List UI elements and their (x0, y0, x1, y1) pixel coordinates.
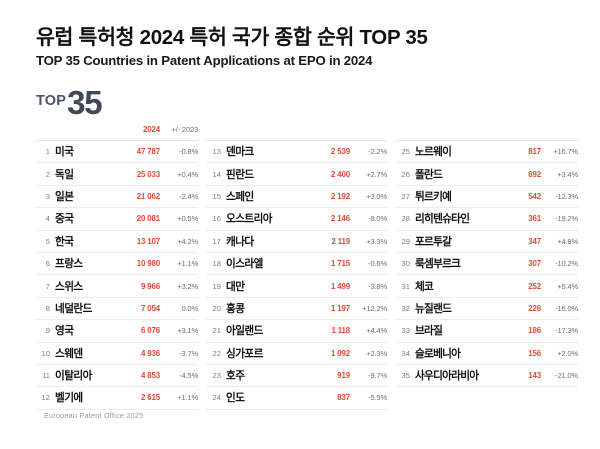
row-country: 인도 (226, 390, 337, 405)
table-row[interactable]: 13덴마크2 539-2.2% (206, 141, 387, 163)
table-row[interactable]: 1미국47 787-0.8% (35, 141, 198, 163)
table-row[interactable]: 22싱가포르1 092+2.3% (206, 343, 387, 365)
table-row[interactable]: 4중국20 081+0.5% (35, 208, 198, 230)
column-header: # x 2024 +/- 2023 (35, 122, 198, 141)
row-rank: 14 (206, 170, 226, 179)
table-row[interactable]: 2독일25 033+0.4% (35, 163, 198, 185)
table-row[interactable]: 31체코252+5.4% (395, 275, 578, 297)
row-delta-2023: -4.5% (168, 371, 198, 380)
header: 유럽 특허청 2024 특허 국가 종합 순위 TOP 35 TOP 35 Co… (0, 0, 600, 69)
row-delta-2023: -0.8% (168, 147, 198, 156)
ranking-column-2: 13덴마크2 539-2.2%14핀란드2 400+2.7%15스페인2 192… (206, 122, 387, 410)
table-row[interactable]: 5한국13 107+4.2% (35, 231, 198, 253)
row-country: 벨기에 (55, 390, 141, 405)
row-country: 대만 (226, 279, 331, 294)
row-value-2024: 1 197 (331, 304, 357, 313)
table-row[interactable]: 23호주919-9.7% (206, 365, 387, 387)
top35-badge: TOP 35 (36, 86, 600, 119)
table-row[interactable]: 7스위스9 966+3.2% (35, 275, 198, 297)
row-value-2024: 1 715 (331, 259, 357, 268)
row-delta-2023: -16.0% (548, 304, 578, 313)
row-country: 핀란드 (226, 167, 331, 182)
row-rank: 32 (395, 304, 415, 313)
row-value-2024: 542 (528, 192, 548, 201)
row-delta-2023: -10.2% (548, 259, 578, 268)
row-value-2024: 252 (528, 282, 548, 291)
table-row[interactable]: 33브라질186-17.3% (395, 320, 578, 342)
row-delta-2023: +3.0% (357, 192, 387, 201)
row-country: 미국 (55, 144, 137, 159)
column-3-rows: 25노르웨이817+16.7%26폴란드692+3.4%27튀르키예542-12… (395, 141, 578, 387)
row-delta-2023: -0.6% (357, 259, 387, 268)
page-title: 유럽 특허청 2024 특허 국가 종합 순위 TOP 35 (36, 26, 600, 50)
table-row[interactable]: 32뉴질랜드226-16.0% (395, 298, 578, 320)
row-value-2024: 361 (528, 214, 548, 223)
badge-number: 35 (67, 86, 101, 119)
row-country: 일본 (55, 189, 137, 204)
row-country: 싱가포르 (226, 346, 331, 361)
row-country: 독일 (55, 167, 137, 182)
row-rank: 10 (35, 349, 55, 358)
row-rank: 8 (35, 304, 55, 313)
row-rank: 25 (395, 147, 415, 156)
row-country: 스페인 (226, 189, 331, 204)
row-value-2024: 13 107 (137, 237, 168, 246)
row-rank: 5 (35, 237, 55, 246)
row-value-2024: 9 966 (141, 282, 168, 291)
row-rank: 15 (206, 192, 226, 201)
table-row[interactable]: 26폴란드692+3.4% (395, 163, 578, 185)
row-country: 브라질 (415, 323, 528, 338)
source-credit: European Patent Office 2025 (44, 411, 143, 420)
table-row[interactable]: 24인도837-5.5% (206, 387, 387, 409)
table-row[interactable]: 16오스트리아2 146-8.0% (206, 208, 387, 230)
row-delta-2023: +2.3% (357, 349, 387, 358)
row-rank: 19 (206, 282, 226, 291)
table-row[interactable]: 18이스라엘1 715-0.6% (206, 253, 387, 275)
row-rank: 27 (395, 192, 415, 201)
table-row[interactable]: 25노르웨이817+16.7% (395, 141, 578, 163)
row-delta-2023: +1.1% (168, 259, 198, 268)
infographic-page: 유럽 특허청 2024 특허 국가 종합 순위 TOP 35 TOP 35 Co… (0, 0, 600, 449)
row-delta-2023: +3.2% (168, 282, 198, 291)
row-rank: 35 (395, 371, 415, 380)
row-rank: 34 (395, 349, 415, 358)
row-rank: 16 (206, 214, 226, 223)
row-country: 이탈리아 (55, 368, 141, 383)
table-row[interactable]: 34슬로베니아156+2.0% (395, 343, 578, 365)
row-value-2024: 2 539 (331, 147, 357, 156)
row-rank: 28 (395, 214, 415, 223)
row-value-2024: 2 119 (331, 237, 357, 246)
row-value-2024: 919 (337, 371, 357, 380)
row-country: 네덜란드 (55, 301, 141, 316)
row-rank: 31 (395, 282, 415, 291)
ranking-columns: # x 2024 +/- 2023 1미국47 787-0.8%2독일25 03… (0, 122, 600, 410)
row-delta-2023: +3.3% (357, 237, 387, 246)
table-row[interactable]: 12벨기에2 615+1.1% (35, 387, 198, 409)
row-delta-2023: -2.2% (357, 147, 387, 156)
row-country: 스웨덴 (55, 346, 141, 361)
row-value-2024: 6 076 (141, 326, 168, 335)
row-delta-2023: +0.5% (168, 214, 198, 223)
page-subtitle: TOP 35 Countries in Patent Applications … (36, 53, 600, 69)
row-delta-2023: +16.7% (548, 147, 578, 156)
row-country: 폴란드 (415, 167, 528, 182)
row-country: 룩셈부르크 (415, 256, 528, 271)
row-country: 스위스 (55, 279, 141, 294)
row-value-2024: 1 118 (331, 326, 357, 335)
row-value-2024: 156 (528, 349, 548, 358)
row-country: 사우디아라비아 (415, 368, 528, 383)
row-delta-2023: -5.5% (357, 393, 387, 402)
table-row[interactable]: 9영국6 076+3.1% (35, 320, 198, 342)
row-delta-2023: -19.2% (548, 214, 578, 223)
row-rank: 1 (35, 147, 55, 156)
table-row[interactable]: 35사우디아라비아143-21.0% (395, 365, 578, 387)
column-3-rule (395, 122, 578, 141)
row-delta-2023: +1.1% (168, 393, 198, 402)
table-row[interactable]: 14핀란드2 400+2.7% (206, 163, 387, 185)
table-row[interactable]: 8네덜란드7 0540.0% (35, 298, 198, 320)
table-row[interactable]: 15스페인2 192+3.0% (206, 186, 387, 208)
row-value-2024: 692 (528, 170, 548, 179)
table-row[interactable]: 28리히텐슈타인361-19.2% (395, 208, 578, 230)
row-value-2024: 4 853 (141, 371, 168, 380)
badge-top-label: TOP (36, 94, 66, 109)
row-country: 중국 (55, 211, 137, 226)
row-delta-2023: -9.7% (357, 371, 387, 380)
row-value-2024: 20 081 (137, 214, 168, 223)
row-delta-2023: -2.4% (168, 192, 198, 201)
row-country: 뉴질랜드 (415, 301, 528, 316)
row-delta-2023: -12.3% (548, 192, 578, 201)
header-year-current: 2024 (143, 125, 168, 134)
row-rank: 13 (206, 147, 226, 156)
row-rank: 29 (395, 237, 415, 246)
row-delta-2023: +12.2% (357, 304, 387, 313)
row-country: 아일랜드 (226, 323, 331, 338)
row-delta-2023: -3.8% (357, 282, 387, 291)
row-value-2024: 25 033 (137, 170, 168, 179)
table-row[interactable]: 29포르투갈347+4.8% (395, 231, 578, 253)
row-value-2024: 307 (528, 259, 548, 268)
table-row[interactable]: 20홍콩1 197+12.2% (206, 298, 387, 320)
row-value-2024: 2 400 (331, 170, 357, 179)
row-country: 포르투갈 (415, 234, 528, 249)
row-delta-2023: 0.0% (168, 304, 198, 313)
row-rank: 21 (206, 326, 226, 335)
row-value-2024: 10 980 (137, 259, 168, 268)
row-value-2024: 1 092 (331, 349, 357, 358)
row-country: 덴마크 (226, 144, 331, 159)
row-value-2024: 143 (528, 371, 548, 380)
row-rank: 12 (35, 393, 55, 402)
ranking-column-3: 25노르웨이817+16.7%26폴란드692+3.4%27튀르키예542-12… (395, 122, 578, 410)
table-row[interactable]: 3일본21 062-2.4% (35, 186, 198, 208)
row-delta-2023: +3.1% (168, 326, 198, 335)
row-rank: 24 (206, 393, 226, 402)
row-delta-2023: +5.4% (548, 282, 578, 291)
header-year-compare: +/- 2023 (168, 125, 198, 134)
row-rank: 18 (206, 259, 226, 268)
row-value-2024: 2 615 (141, 393, 168, 402)
row-rank: 9 (35, 326, 55, 335)
table-row[interactable]: 11이탈리아4 853-4.5% (35, 365, 198, 387)
table-row[interactable]: 27튀르키예542-12.3% (395, 186, 578, 208)
row-rank: 11 (35, 371, 55, 380)
row-delta-2023: +4.2% (168, 237, 198, 246)
row-delta-2023: +3.4% (548, 170, 578, 179)
row-value-2024: 4 936 (141, 349, 168, 358)
column-2-rule (206, 122, 387, 141)
row-country: 캐나다 (226, 234, 331, 249)
row-value-2024: 186 (528, 326, 548, 335)
row-rank: 33 (395, 326, 415, 335)
column-2-rows: 13덴마크2 539-2.2%14핀란드2 400+2.7%15스페인2 192… (206, 141, 387, 410)
row-country: 이스라엘 (226, 256, 331, 271)
row-country: 튀르키예 (415, 189, 528, 204)
row-delta-2023: -21.0% (548, 371, 578, 380)
row-rank: 4 (35, 214, 55, 223)
row-country: 리히텐슈타인 (415, 211, 528, 226)
row-country: 체코 (415, 279, 528, 294)
table-row[interactable]: 21아일랜드1 118+4.4% (206, 320, 387, 342)
row-rank: 22 (206, 349, 226, 358)
row-delta-2023: +2.7% (357, 170, 387, 179)
row-delta-2023: -8.0% (357, 214, 387, 223)
row-delta-2023: +4.8% (548, 237, 578, 246)
row-value-2024: 817 (528, 147, 548, 156)
ranking-column-1: # x 2024 +/- 2023 1미국47 787-0.8%2독일25 03… (35, 122, 198, 410)
table-row[interactable]: 10스웨덴4 936-3.7% (35, 343, 198, 365)
row-delta-2023: +2.0% (548, 349, 578, 358)
row-delta-2023: -3.7% (168, 349, 198, 358)
row-rank: 30 (395, 259, 415, 268)
row-country: 노르웨이 (415, 144, 528, 159)
row-country: 홍콩 (226, 301, 331, 316)
row-rank: 17 (206, 237, 226, 246)
row-value-2024: 2 192 (331, 192, 357, 201)
row-value-2024: 7 054 (141, 304, 168, 313)
row-delta-2023: +0.4% (168, 170, 198, 179)
row-country: 오스트리아 (226, 211, 331, 226)
row-value-2024: 21 062 (137, 192, 168, 201)
table-row[interactable]: 19대만1 499-3.8% (206, 275, 387, 297)
row-value-2024: 47 787 (137, 147, 168, 156)
table-row[interactable]: 17캐나다2 119+3.3% (206, 231, 387, 253)
row-rank: 3 (35, 192, 55, 201)
row-delta-2023: -17.3% (548, 326, 578, 335)
row-country: 한국 (55, 234, 137, 249)
column-1-rows: 1미국47 787-0.8%2독일25 033+0.4%3일본21 062-2.… (35, 141, 198, 410)
row-rank: 2 (35, 170, 55, 179)
row-rank: 20 (206, 304, 226, 313)
row-country: 슬로베니아 (415, 346, 528, 361)
row-rank: 7 (35, 282, 55, 291)
row-value-2024: 226 (528, 304, 548, 313)
row-country: 호주 (226, 368, 337, 383)
row-value-2024: 2 146 (331, 214, 357, 223)
row-country: 프랑스 (55, 256, 137, 271)
row-delta-2023: +4.4% (357, 326, 387, 335)
table-row[interactable]: 6프랑스10 980+1.1% (35, 253, 198, 275)
row-value-2024: 837 (337, 393, 357, 402)
table-row[interactable]: 30룩셈부르크307-10.2% (395, 253, 578, 275)
row-value-2024: 1 499 (331, 282, 357, 291)
row-rank: 23 (206, 371, 226, 380)
row-rank: 6 (35, 259, 55, 268)
row-rank: 26 (395, 170, 415, 179)
row-value-2024: 347 (528, 237, 548, 246)
row-country: 영국 (55, 323, 141, 338)
